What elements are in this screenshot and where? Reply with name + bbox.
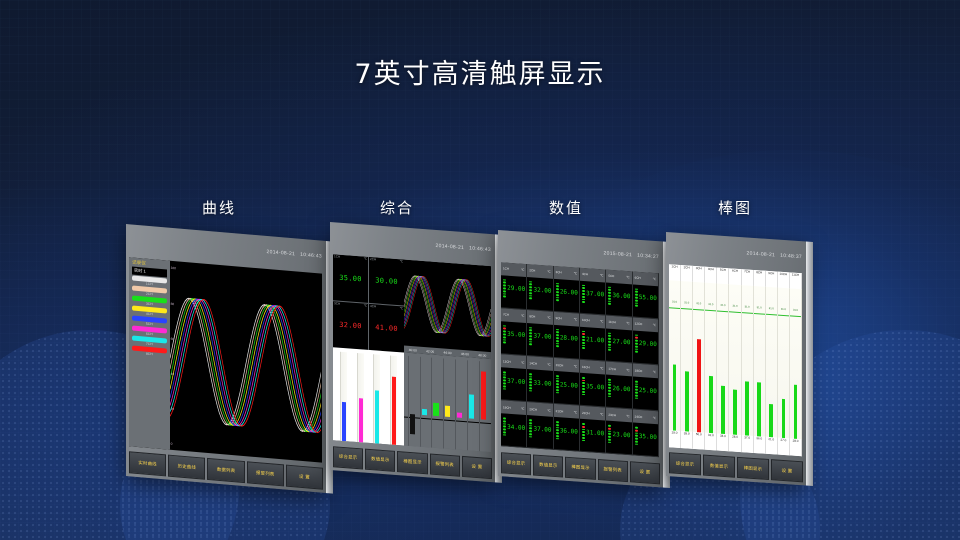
- caption-bargraph: 棒图: [718, 197, 752, 218]
- cell-unit: ℃: [600, 412, 603, 416]
- cell-header: 24CH℃: [633, 410, 658, 424]
- led-indicator: [556, 297, 559, 299]
- cell-value: 37.00: [532, 326, 552, 341]
- cell-tag: 2CH: [529, 268, 535, 272]
- led-indicator: [635, 351, 638, 353]
- bargraph-channel-label: 9CH: [766, 271, 778, 288]
- bar-fill: [445, 405, 450, 417]
- key-button-3[interactable]: 报警列表: [598, 459, 628, 483]
- numeric-cell-20CH[interactable]: 20CH℃37.00: [527, 402, 553, 449]
- meter-fill: [359, 398, 363, 446]
- bargraph-value: 32.0: [705, 433, 717, 450]
- cell-header: 1CH℃: [501, 262, 526, 276]
- cell-unit: ℃: [653, 415, 656, 419]
- bargraph-channel-label: 11CH: [790, 272, 802, 289]
- numeric-cell-21CH[interactable]: 21CH℃36.00: [554, 404, 580, 451]
- header-time: 10:48:37: [780, 253, 802, 260]
- cell-tag: 15CH: [556, 363, 564, 368]
- device-side-edge: [806, 242, 813, 486]
- numeric-cell-13CH[interactable]: 13CH℃37.00: [501, 354, 527, 401]
- bargraph-channel-label: 4CH: [705, 266, 717, 283]
- bargraph-bar-fill: [709, 376, 713, 433]
- led-indicator: [582, 301, 585, 303]
- bargraph-bar-fill: [757, 382, 761, 436]
- caption-composite: 综合: [380, 197, 414, 218]
- numeric-cell-24CH[interactable]: 24CH℃35.00: [633, 410, 659, 457]
- led-indicator: [582, 393, 585, 395]
- cell-value: 37.00: [532, 419, 552, 434]
- bargraph-bar-fill: [769, 404, 773, 437]
- led-indicator: [582, 440, 585, 442]
- cell-value: 35.00: [339, 274, 362, 284]
- cell-value: 35.00: [638, 426, 658, 441]
- cell-value: 35.00: [585, 376, 605, 391]
- setpoint-value: 31.0: [757, 306, 762, 309]
- numeric-cell-3CH[interactable]: 3CH℃32.00: [333, 301, 368, 350]
- led-indicator: [529, 341, 532, 343]
- key-button-2[interactable]: 数据列表: [207, 458, 244, 483]
- numeric-cell-2CH[interactable]: 2CH℃30.00: [369, 257, 404, 306]
- led-indicator: [635, 348, 638, 350]
- meters-quadrant[interactable]: 1CH2CH3CH4CH: [333, 347, 404, 445]
- led-indicator: [556, 343, 559, 345]
- caption-curve: 曲线: [202, 197, 236, 218]
- header-time: 10:34:27: [637, 253, 659, 261]
- channel-sidebar[interactable]: 记录仪 实时 1 1CH2CH3CH4CH5CH6CH7CH8CH: [129, 257, 170, 449]
- cell-tag: 12CH: [635, 322, 643, 327]
- bargraph-bar-fill: [782, 399, 786, 438]
- cell-value: 32.00: [339, 321, 362, 331]
- led-indicator: [529, 295, 532, 297]
- key-button-0[interactable]: 综合显示: [669, 452, 701, 475]
- cell-value: 37.00: [506, 371, 526, 386]
- cell-header: 22CH℃: [580, 406, 605, 420]
- cell-header: 20CH℃: [527, 402, 552, 416]
- cell-header: 7CH℃: [501, 308, 526, 322]
- setpoint-line: [778, 315, 789, 317]
- bargraph-bar-fill: [721, 386, 725, 434]
- y-tick: 80: [171, 301, 175, 305]
- cell-header: 19CH℃: [501, 401, 526, 415]
- cell-header: 16CH℃: [580, 360, 605, 374]
- meter-4CH: 4CH: [390, 356, 397, 446]
- bargraph-channel-label: 8CH: [754, 270, 766, 287]
- led-indicator: [503, 385, 506, 387]
- cell-tag: 7CH: [503, 313, 509, 317]
- cell-unit: ℃: [600, 366, 603, 370]
- numeric-cell-16CH[interactable]: 16CH℃35.00: [580, 360, 606, 407]
- setpoint-value: 31.0: [781, 307, 786, 310]
- cell-value: 29.00: [638, 334, 658, 349]
- cell-tag: 14CH: [529, 361, 537, 366]
- x-tick: 44:00: [444, 350, 452, 355]
- bargraph-value: 21.0: [766, 437, 778, 454]
- led-indicator: [529, 390, 532, 392]
- setpoint-value: 31.0: [745, 305, 750, 308]
- led-indicator: [582, 391, 585, 393]
- channel-swatch-8CH[interactable]: 8CH: [132, 345, 167, 358]
- setpoint-value: 31.0: [720, 303, 725, 306]
- cell-header: 14CH℃: [527, 356, 552, 370]
- setpoint-value: 31.0: [732, 304, 737, 307]
- y-tick: 40: [171, 372, 175, 376]
- y-tick: 100: [171, 266, 176, 270]
- cell-header: 10CH℃: [580, 314, 605, 328]
- cell-unit: ℃: [521, 360, 524, 364]
- bargraph-bar-fill: [697, 339, 701, 432]
- cell-unit: ℃: [574, 364, 577, 368]
- key-button-1[interactable]: 历史曲线: [168, 455, 205, 480]
- setpoint-line: [717, 311, 728, 313]
- cell-header: 9CH℃: [554, 312, 579, 326]
- cell-tag: 10CH: [582, 318, 590, 323]
- numeric-cell-22CH[interactable]: 22CH℃31.00: [580, 406, 606, 453]
- bargraph-column-7CH[interactable]: 31.0: [742, 285, 754, 436]
- numeric-cell-9CH[interactable]: 9CH℃28.00: [554, 312, 580, 359]
- cell-header: 13CH℃: [501, 354, 526, 368]
- cell-tag: 9CH: [556, 316, 562, 320]
- setpoint-value: 31.0: [793, 308, 798, 311]
- cell-tag: 8CH: [529, 315, 535, 319]
- meter-3CH: 3CH: [373, 354, 380, 445]
- setpoint-line: [705, 310, 716, 312]
- bargraph-bar-fill: [745, 382, 749, 436]
- cell-tag: 16CH: [582, 364, 590, 369]
- cell-tag: 3CH: [556, 270, 562, 274]
- cell-tag: 5CH: [608, 274, 614, 278]
- bargraph-column-8CH[interactable]: 31.0: [754, 286, 766, 437]
- cell-header: 8CH℃: [527, 310, 552, 324]
- cell-tag: 4CH: [582, 272, 588, 276]
- cell-header: 3CH℃: [554, 266, 579, 280]
- device-numeric[interactable]: 2015-08-21 10:34:27 1CH℃29.002CH℃32.003C…: [498, 230, 663, 488]
- key-button-2[interactable]: 棒图显示: [565, 456, 595, 480]
- led-indicator: [556, 392, 559, 394]
- led-indicator: [608, 392, 611, 394]
- cell-unit: ℃: [364, 257, 367, 261]
- cell-unit: ℃: [547, 316, 550, 320]
- setpoint-line: [729, 312, 740, 314]
- key-button-4[interactable]: 设 置: [462, 455, 492, 479]
- cell-value: 32.00: [532, 280, 552, 295]
- cell-tag: 11CH: [608, 320, 615, 325]
- led-indicator: [503, 431, 506, 433]
- numeric-cell-17CH[interactable]: 17CH℃26.00: [606, 362, 632, 409]
- setpoint-line: [790, 316, 801, 318]
- cell-unit: ℃: [547, 408, 550, 412]
- numeric-cell-3CH[interactable]: 3CH℃26.00: [554, 266, 580, 313]
- bargraph-value: 27.0: [778, 438, 790, 455]
- led-indicator: [556, 389, 559, 391]
- bargraph-bar-fill: [685, 372, 689, 432]
- led-indicator: [608, 395, 611, 397]
- numeric-cell-10CH[interactable]: 10CH℃21.00: [580, 314, 606, 361]
- numeric-cell-18CH[interactable]: 18CH℃25.00: [633, 364, 659, 411]
- cell-value: 55.00: [638, 288, 658, 303]
- led-indicator: [608, 441, 611, 443]
- bar-fill: [410, 414, 415, 435]
- numeric-cell-8CH[interactable]: 8CH℃37.00: [527, 310, 553, 357]
- cell-tag: 24CH: [635, 414, 643, 419]
- bargraph-channel-label: 3CH: [693, 266, 705, 283]
- bargraph-channel-label: 2CH: [681, 265, 693, 282]
- setpoint-line: [742, 312, 753, 314]
- bargraph-value: 37.0: [742, 435, 754, 452]
- channel-list[interactable]: 1CH2CH3CH4CH5CH6CH7CH8CH: [130, 275, 169, 358]
- cell-value: 29.00: [506, 278, 526, 293]
- led-indicator: [503, 293, 506, 295]
- setpoint-line: [681, 308, 692, 310]
- numeric-cell-2CH[interactable]: 2CH℃32.00: [527, 264, 553, 311]
- cell-unit: ℃: [521, 406, 524, 410]
- composite-curves: [404, 260, 491, 353]
- led-indicator: [529, 344, 532, 346]
- cell-value: 31.00: [585, 422, 605, 437]
- led-indicator: [503, 339, 506, 341]
- numeric-cell-14CH[interactable]: 14CH℃33.00: [527, 356, 553, 403]
- bar-6CH: [467, 361, 475, 453]
- bar-2CH: [420, 357, 428, 451]
- bar-fill: [433, 403, 438, 416]
- meter-fill: [392, 376, 396, 445]
- bargraph-column-10CH[interactable]: 31.0: [778, 288, 790, 439]
- key-button-0[interactable]: 综合显示: [333, 446, 363, 470]
- key-button-3[interactable]: 报警列表: [430, 453, 460, 477]
- cell-value: 35.00: [506, 324, 526, 339]
- cell-unit: ℃: [626, 275, 629, 279]
- key-button-4[interactable]: 设 置: [630, 461, 660, 485]
- led-indicator: [556, 435, 559, 437]
- bargraph-value: 39.0: [681, 431, 693, 448]
- key-button-0[interactable]: 综合显示: [501, 452, 531, 476]
- cell-tag: 13CH: [503, 359, 511, 364]
- bar-fill: [422, 409, 427, 415]
- key-button-3[interactable]: 设 置: [771, 459, 803, 482]
- key-button-1[interactable]: 数值显示: [533, 454, 563, 478]
- numeric-quadrant[interactable]: 1CH℃35.002CH℃30.003CH℃32.004CH℃41.00: [333, 254, 404, 352]
- x-tick: 42:00: [426, 349, 434, 354]
- led-indicator: [529, 433, 532, 435]
- led-indicator: [635, 305, 638, 307]
- trend-plot[interactable]: 100806040200: [170, 262, 321, 460]
- page-title: 7英寸高清触屏显示: [0, 52, 960, 91]
- key-button-1[interactable]: 数值显示: [703, 454, 735, 477]
- y-tick: 60: [171, 337, 175, 341]
- screen-numeric[interactable]: 1CH℃29.002CH℃32.003CH℃26.004CH℃37.005CH℃…: [501, 262, 659, 458]
- setpoint-line: [766, 314, 777, 316]
- bargraph-value: 56.0: [693, 432, 705, 449]
- cell-unit: ℃: [364, 304, 367, 308]
- cell-value: 26.00: [611, 378, 631, 393]
- numeric-cell-4CH[interactable]: 4CH℃41.00: [369, 304, 404, 353]
- header-time: 10:46:43: [300, 252, 322, 260]
- cell-header: 12CH℃: [633, 318, 658, 332]
- bargraph-column-4CH[interactable]: 31.0: [705, 283, 717, 434]
- bargraph-value: 34.0: [717, 434, 729, 451]
- cell-header: 6CH℃: [633, 271, 658, 285]
- cell-header: 15CH℃: [554, 358, 579, 372]
- bar-4CH: [443, 359, 451, 453]
- cell-value: 36.00: [559, 420, 579, 435]
- led-indicator: [608, 300, 611, 302]
- numeric-cell-15CH[interactable]: 15CH℃25.00: [554, 358, 580, 405]
- numeric-cell-7CH[interactable]: 7CH℃35.00: [501, 308, 527, 355]
- curve-quadrant[interactable]: 40:0042:0044:0046:0048:00: [404, 260, 491, 360]
- cell-value: 33.00: [532, 372, 552, 387]
- cell-unit: ℃: [600, 273, 603, 277]
- cell-value: 21.00: [585, 330, 605, 345]
- cell-value: 25.00: [638, 380, 658, 395]
- cell-tag: 22CH: [582, 411, 590, 416]
- bargraph-column-1CH[interactable]: 31.0: [669, 280, 681, 431]
- device-composite[interactable]: 2014-08-21 10:46:43 1CH℃35.002CH℃30.003C…: [330, 222, 495, 482]
- bar-7CH: [479, 361, 487, 452]
- cell-unit: ℃: [626, 368, 629, 372]
- bargraph-column-2CH[interactable]: 31.0: [681, 281, 693, 432]
- setpoint-line: [693, 309, 704, 311]
- x-tick: 46:00: [461, 352, 469, 357]
- numeric-cell-1CH[interactable]: 1CH℃35.00: [333, 254, 368, 303]
- cell-tag: 17CH: [608, 366, 616, 371]
- device-curve[interactable]: 2014-08-21 10:46:43 记录仪 实时 1 1CH2CH3CH4C…: [126, 224, 326, 493]
- numeric-cell-5CH[interactable]: 5CH℃36.00: [606, 270, 632, 317]
- header-date: 2015-08-21: [604, 250, 633, 258]
- bar-1CH: [408, 356, 416, 450]
- cell-unit: ℃: [547, 270, 550, 274]
- cell-unit: ℃: [600, 320, 603, 324]
- y-tick: 20: [171, 407, 175, 411]
- setpoint-value: 31.0: [684, 301, 689, 304]
- bargraph-channel-label: 6CH: [729, 268, 741, 285]
- bar-fill: [457, 413, 462, 418]
- bargraph-value: 28.0: [790, 439, 802, 456]
- cell-unit: ℃: [521, 268, 524, 272]
- bargraph-column-9CH[interactable]: 31.0: [766, 287, 778, 438]
- screen-curve[interactable]: 记录仪 实时 1 1CH2CH3CH4CH5CH6CH7CH8CH 100806…: [129, 257, 322, 462]
- header-time: 10:46:43: [469, 246, 491, 254]
- meter-fill: [342, 402, 346, 445]
- cell-header: 5CH℃: [606, 270, 631, 284]
- cell-unit: ℃: [521, 314, 524, 318]
- bargraph-column-11CH[interactable]: 31.0: [790, 289, 802, 440]
- cell-value: 30.00: [375, 277, 398, 287]
- cell-unit: ℃: [400, 259, 403, 263]
- cell-header: 21CH℃: [554, 404, 579, 418]
- screen-bargraph[interactable]: 1CH2CH3CH4CH5CH6CH7CH8CH9CH10CH11CH 31.0…: [669, 264, 802, 456]
- cell-unit: ℃: [574, 410, 577, 414]
- numeric-cell-1CH[interactable]: 1CH℃29.00: [501, 262, 527, 309]
- caption-numeric: 数值: [549, 197, 583, 218]
- meter-fill: [375, 390, 379, 446]
- meter-1CH: 1CH: [340, 352, 347, 446]
- led-indicator: [608, 346, 611, 348]
- bargraph-column-3CH[interactable]: 31.0: [693, 282, 705, 433]
- bargraph-value: 36.0: [754, 436, 766, 453]
- cell-header: 11CH℃: [606, 316, 631, 330]
- setpoint-line: [754, 313, 765, 315]
- setpoint-value: 31.0: [696, 302, 701, 305]
- cell-unit: ℃: [653, 323, 656, 327]
- screen-composite[interactable]: 1CH℃35.002CH℃30.003CH℃32.004CH℃41.00 40:…: [333, 254, 491, 452]
- bar-3CH: [431, 358, 439, 452]
- led-indicator: [582, 347, 585, 349]
- led-indicator: [635, 394, 638, 396]
- bargraph-bar-fill: [794, 385, 798, 439]
- cell-unit: ℃: [574, 272, 577, 276]
- cell-header: 18CH℃: [633, 364, 658, 378]
- cell-value: 37.00: [585, 284, 605, 299]
- cell-value: 28.00: [559, 328, 579, 343]
- cell-tag: 4CH: [370, 304, 376, 308]
- cell-header: 23CH℃: [606, 408, 631, 422]
- setpoint-value: 31.0: [708, 303, 713, 306]
- bargraph-columns[interactable]: 31.031.031.031.031.031.031.031.031.031.0…: [669, 280, 802, 439]
- led-indicator: [582, 345, 585, 347]
- bar-5CH: [455, 360, 463, 453]
- led-indicator: [556, 345, 559, 347]
- y-axis-labels: 100806040200: [171, 263, 179, 449]
- header-date: 2014-08-21: [267, 249, 296, 257]
- bargraph-column-6CH[interactable]: 31.0: [729, 285, 741, 436]
- bar-fill: [469, 394, 474, 419]
- bargraph-value: 28.0: [729, 435, 741, 452]
- numeric-cell-11CH[interactable]: 11CH℃27.00: [606, 316, 632, 363]
- cell-unit: ℃: [400, 306, 403, 310]
- cell-tag: 19CH: [503, 405, 511, 410]
- led-indicator: [635, 397, 638, 399]
- cell-unit: ℃: [626, 414, 629, 418]
- numeric-cell-23CH[interactable]: 23CH℃23.00: [606, 408, 632, 455]
- led-indicator: [556, 438, 559, 440]
- cell-unit: ℃: [626, 321, 629, 325]
- bar-fill: [481, 371, 486, 420]
- meter-2CH: 2CH: [357, 353, 364, 446]
- cell-unit: ℃: [574, 318, 577, 322]
- bargraph-channel-label: 1CH: [669, 264, 681, 281]
- key-button-4[interactable]: 设 置: [286, 465, 323, 490]
- cell-value: 34.00: [506, 417, 526, 432]
- led-indicator: [582, 298, 585, 300]
- barchart-quadrant[interactable]: 1CH2CH3CH4CH5CH6CH7CH: [404, 353, 491, 453]
- device-bargraph[interactable]: 2014-08-21 10:48:37 1CH2CH3CH4CH5CH6CH7C…: [666, 232, 806, 486]
- led-indicator: [503, 388, 506, 390]
- key-button-1[interactable]: 数值显示: [365, 448, 395, 472]
- setpoint-value: 31.0: [769, 307, 774, 310]
- cell-tag: 1CH: [503, 267, 509, 271]
- key-button-2[interactable]: 棒图显示: [737, 457, 769, 480]
- bargraph-column-5CH[interactable]: 31.0: [717, 284, 729, 435]
- cell-tag: 23CH: [608, 412, 616, 417]
- led-indicator: [635, 443, 638, 445]
- key-button-2[interactable]: 棒图显示: [397, 451, 427, 475]
- cell-unit: ℃: [653, 277, 656, 281]
- cell-tag: 21CH: [556, 409, 564, 414]
- cell-value: 25.00: [559, 374, 579, 389]
- numeric-cell-12CH[interactable]: 12CH℃29.00: [633, 318, 659, 365]
- cell-header: 17CH℃: [606, 362, 631, 376]
- led-indicator: [556, 299, 559, 301]
- key-button-0[interactable]: 实时曲线: [129, 451, 166, 476]
- cell-header: 4CH℃: [580, 268, 605, 282]
- cell-tag: 3CH: [334, 302, 340, 306]
- cell-value: 41.00: [375, 324, 398, 334]
- numeric-cell-6CH[interactable]: 6CH℃55.00: [633, 271, 659, 318]
- numeric-cell-19CH[interactable]: 19CH℃34.00: [501, 401, 527, 448]
- bargraph-channel-label: 10CH: [778, 271, 790, 288]
- numeric-cell-4CH[interactable]: 4CH℃37.00: [580, 268, 606, 315]
- led-indicator: [503, 296, 506, 298]
- key-button-3[interactable]: 报警列表: [247, 461, 284, 486]
